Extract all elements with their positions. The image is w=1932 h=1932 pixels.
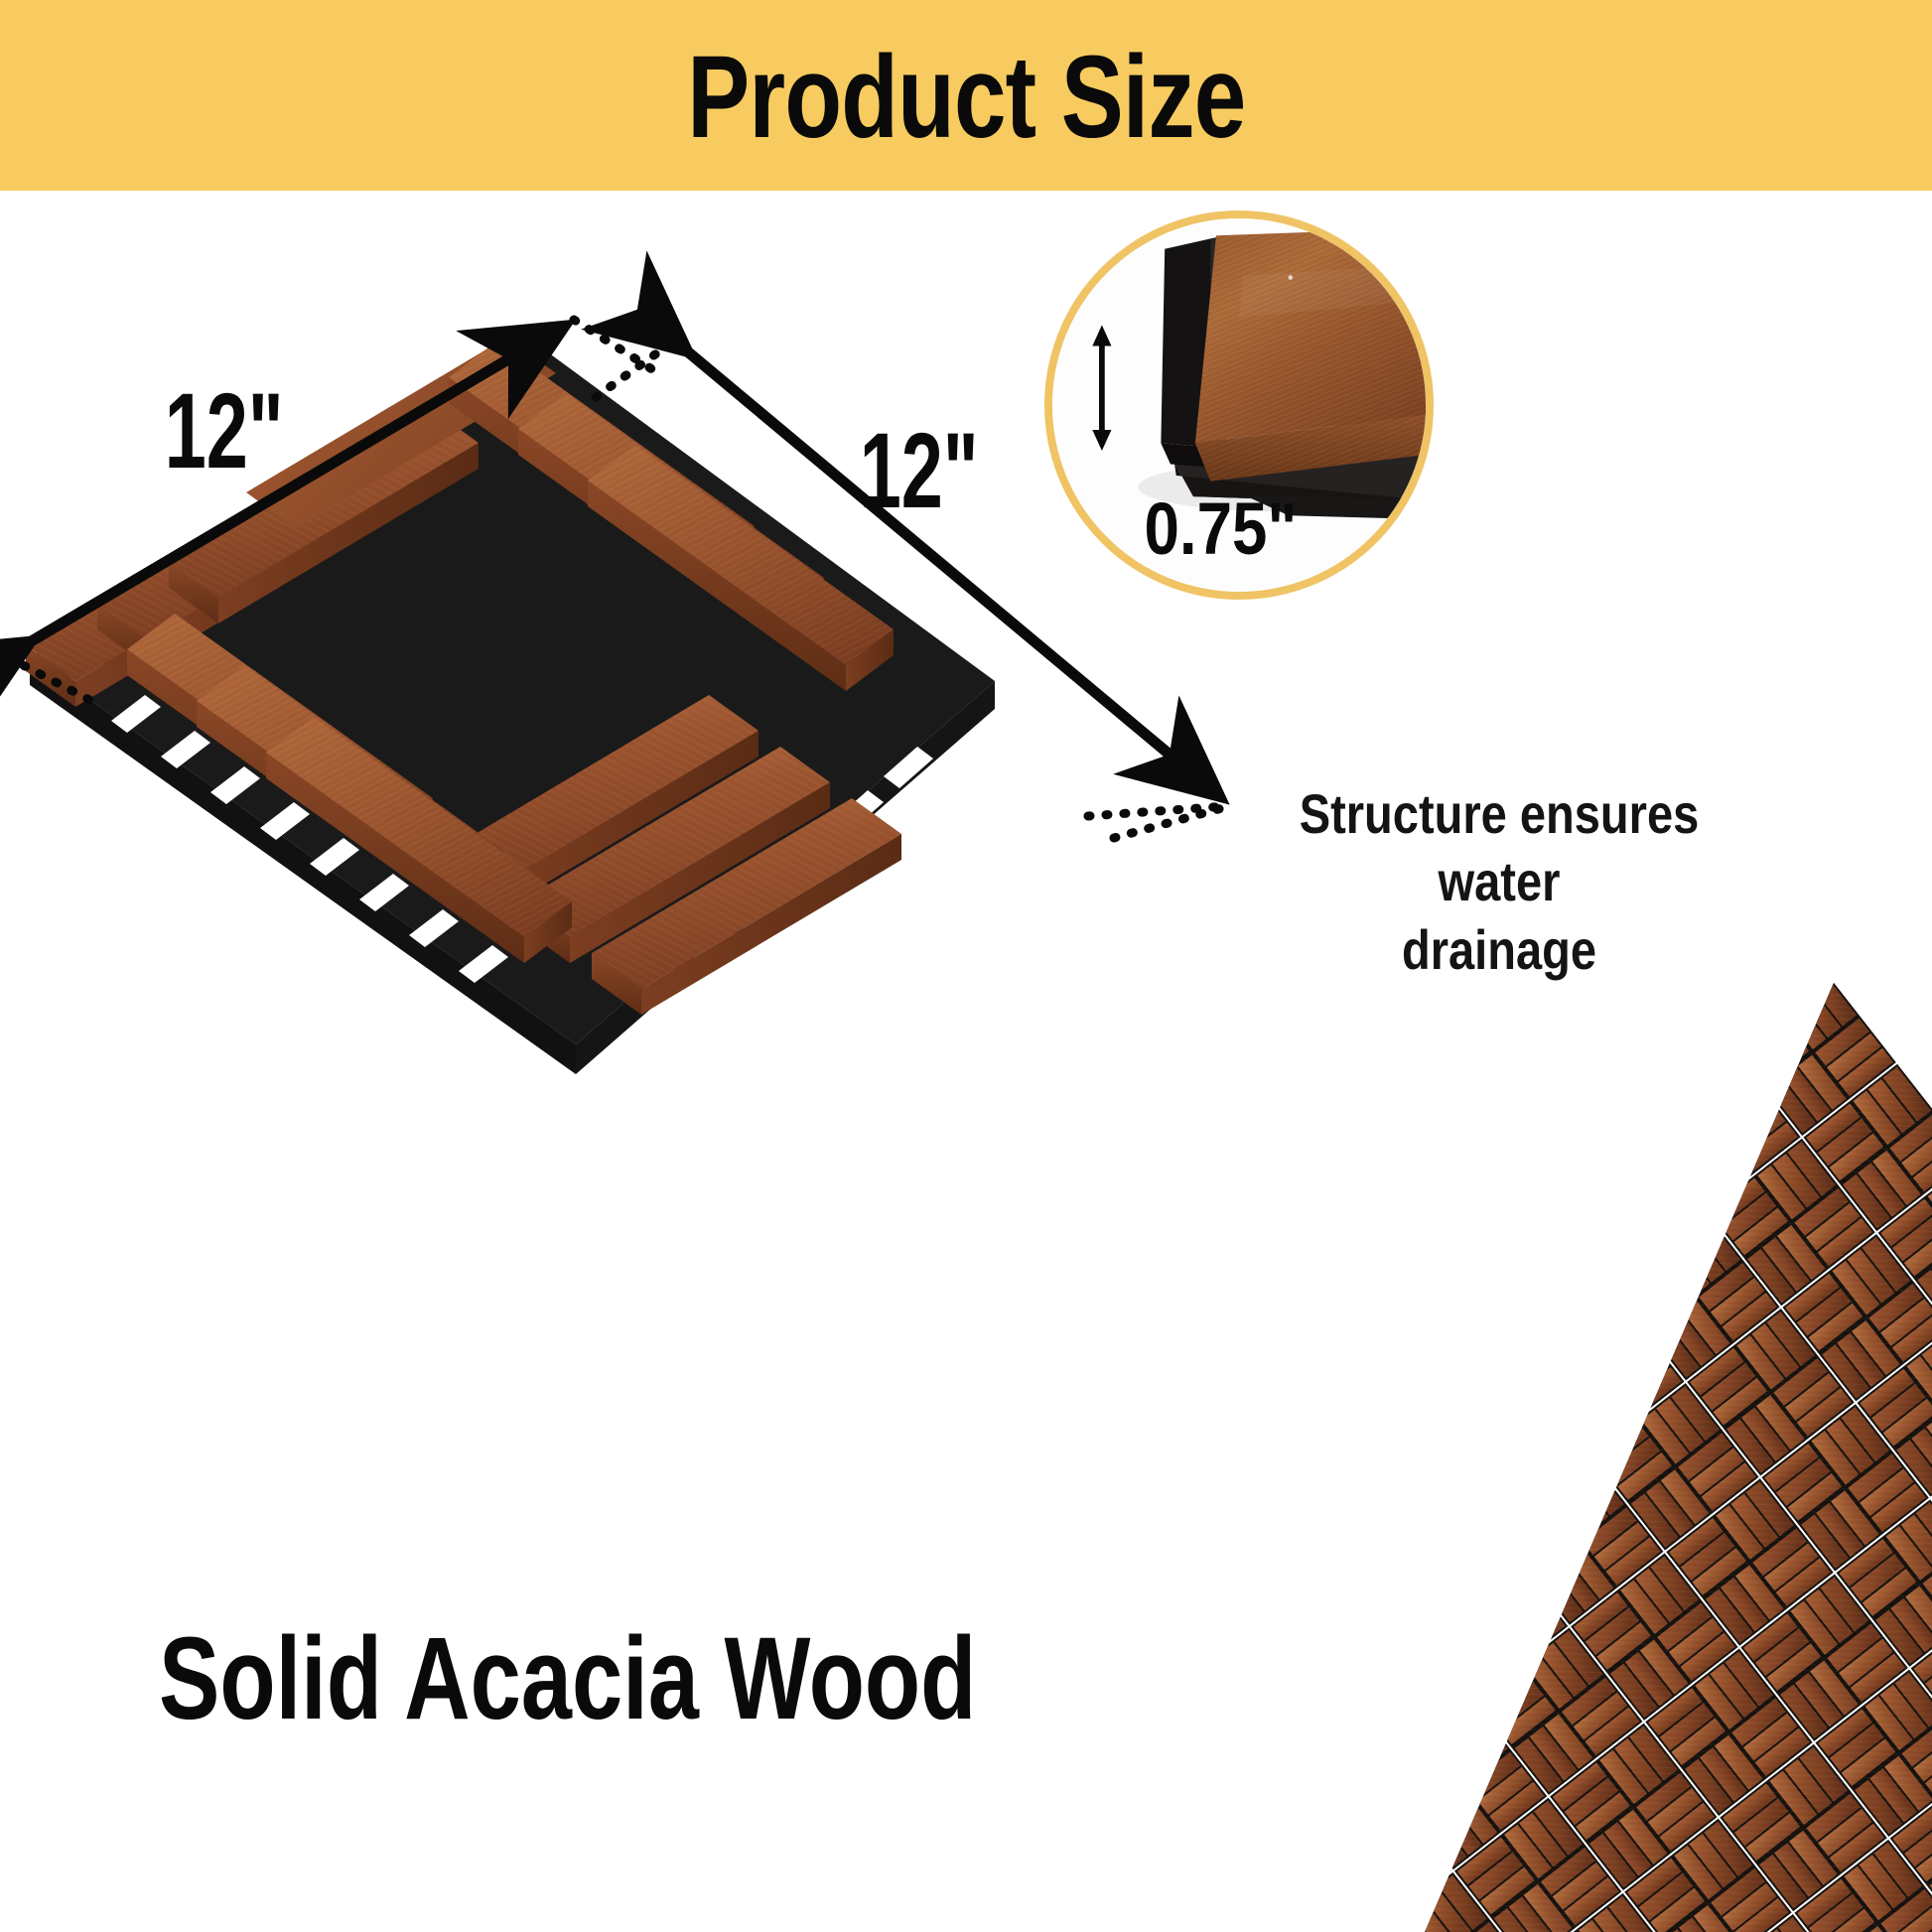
extension-line-length-lower — [1088, 806, 1227, 816]
drainage-caption: Structure ensures water drainage — [1257, 780, 1740, 984]
dimension-label-width: 12" — [165, 377, 284, 484]
infographic-page: Product Size — [0, 0, 1932, 1932]
header-banner: Product Size — [0, 0, 1932, 191]
wood-top-surface — [1195, 228, 1426, 444]
thickness-label: 0.75" — [1145, 486, 1298, 571]
drainage-caption-line-1: Structure ensures water — [1257, 780, 1740, 916]
material-headline: Solid Acacia Wood — [159, 1620, 976, 1737]
dimension-label-length: 12" — [860, 417, 979, 524]
page-title: Product Size — [687, 39, 1245, 156]
drainage-caption-line-2: drainage — [1257, 916, 1740, 984]
deck-tile-grid — [870, 969, 1932, 1932]
